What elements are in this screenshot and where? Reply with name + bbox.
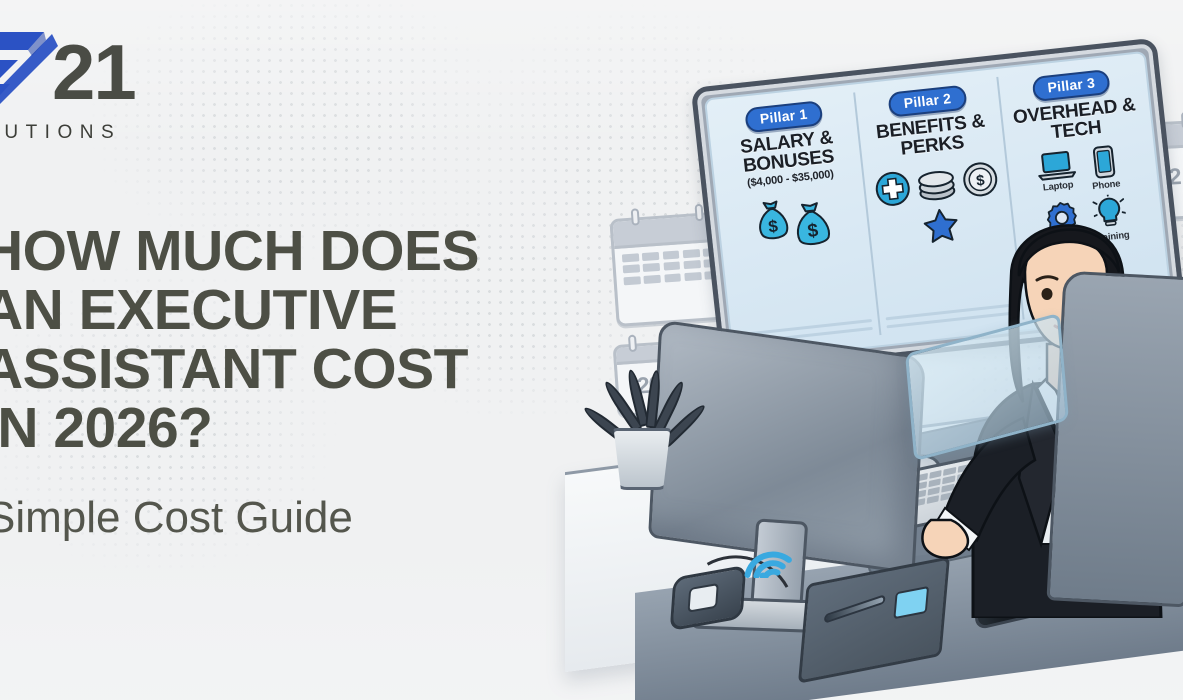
headline-line-1: HOW MUCH DOES: [0, 222, 602, 281]
pillar-3-title: OVERHEAD & TECH: [1006, 95, 1144, 147]
page-title: HOW MUCH DOES AN EXECUTIVE ASSISTANT COS…: [0, 222, 602, 458]
headline-line-2: AN EXECUTIVE: [0, 281, 602, 340]
page-subtitle: Simple Cost Guide: [0, 492, 606, 544]
businesswoman-with-tablet: [915, 148, 1183, 618]
logo-number: 21: [52, 32, 135, 112]
headline-line-3: ASSISTANT COST: [0, 340, 602, 399]
medical-cross-icon: [872, 168, 914, 210]
office-chair: [1046, 271, 1183, 608]
pillar-1: Pillar 1 SALARY & BONUSES ($4,000 - $35,…: [711, 92, 881, 350]
hero-banner: 21 OLUTIONS HOW MUCH DOES AN EXECUTIVE A…: [0, 0, 1183, 700]
pen-icon: [824, 594, 885, 624]
plant-pot: [611, 428, 673, 490]
wifi-signal-icon: [735, 528, 799, 578]
headline-line-4: IN 2026?: [0, 399, 602, 458]
pillar-1-title: SALARY & BONUSES: [719, 126, 857, 178]
illustration: 2026 202 Pillar 1 SALARY & BONUSES ($4,0…: [575, 0, 1183, 700]
logo-tagline: OLUTIONS: [0, 122, 121, 144]
money-bag-icon: $: [789, 198, 838, 250]
brand-logo[interactable]: 21 OLUTIONS: [0, 26, 196, 146]
